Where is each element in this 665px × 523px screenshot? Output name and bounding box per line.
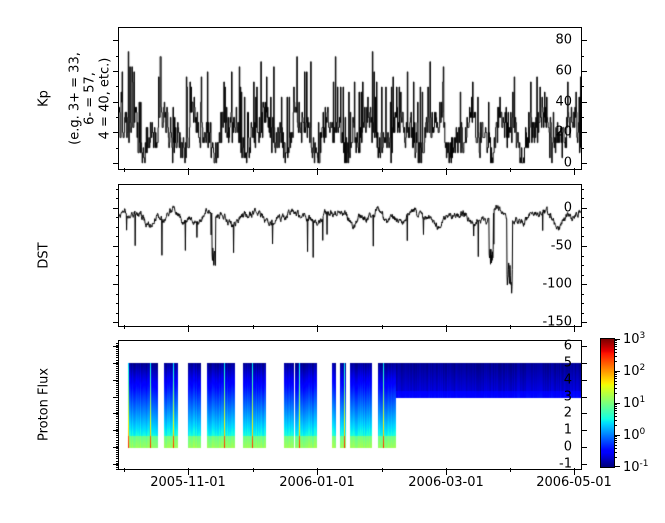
y-minor-tick (581, 198, 584, 199)
y-tick-label: 20 (555, 126, 572, 139)
colorbar-minor-tick (614, 442, 617, 443)
y-major-tick (581, 363, 587, 364)
y-major-tick (581, 464, 587, 465)
colorbar-minor-tick (614, 393, 617, 394)
y-minor-tick (116, 148, 119, 149)
y-minor-tick (581, 294, 584, 295)
y-minor-tick (116, 355, 119, 356)
y-minor-tick (116, 414, 119, 415)
y-minor-tick (116, 56, 119, 57)
y-minor-tick (581, 227, 584, 228)
y-minor-tick (116, 458, 119, 459)
x-minor-tick (124, 468, 125, 472)
y-minor-tick (581, 256, 584, 257)
y-major-tick (581, 102, 587, 103)
y-minor-tick (116, 381, 119, 382)
y-tick-label: 0 (564, 156, 572, 169)
colorbar-minor-tick (614, 384, 617, 385)
colorbar-minor-tick (614, 372, 617, 373)
x-minor-tick (124, 168, 125, 172)
y-major-tick (581, 413, 587, 414)
y-minor-tick (116, 418, 119, 419)
y-minor-tick (116, 397, 119, 398)
y-minor-tick (116, 440, 119, 441)
y-tick-label: 0 (564, 201, 572, 214)
x-major-tick (574, 168, 575, 175)
dst-axis-title: DST (34, 184, 54, 327)
x-minor-tick (382, 468, 383, 472)
y-minor-tick (116, 442, 119, 443)
x-minor-tick (382, 168, 383, 172)
y-minor-tick (116, 389, 119, 390)
y-minor-tick (116, 412, 119, 413)
y-minor-tick (116, 372, 119, 373)
x-major-tick (446, 168, 447, 175)
colorbar-label-1e3: 103 (623, 331, 645, 347)
y-minor-tick (116, 376, 119, 377)
y-major-tick (581, 397, 587, 398)
y-tick-label: 0 (564, 441, 572, 454)
colorbar-minor-tick (614, 344, 617, 345)
colorbar-major-tick (614, 466, 620, 467)
y-major-tick (581, 71, 587, 72)
y-minor-tick (116, 349, 119, 350)
colorbar-minor-tick (614, 413, 617, 414)
x-minor-tick (124, 325, 125, 329)
y-minor-tick (116, 467, 119, 468)
y-minor-tick (116, 456, 119, 457)
y-minor-tick (116, 423, 119, 424)
y-minor-tick (116, 227, 119, 228)
colorbar-minor-tick (614, 374, 617, 375)
y-minor-tick (116, 448, 119, 449)
y-major-tick (113, 208, 119, 209)
y-minor-tick (116, 465, 119, 466)
y-major-tick (581, 346, 587, 347)
colorbar-minor-tick (614, 406, 617, 407)
colorbar-minor-tick (614, 342, 617, 343)
kp-axis-title-line4: 4 = 40, etc.) (98, 33, 113, 163)
y-minor-tick (116, 347, 119, 348)
x-major-tick (188, 468, 189, 475)
y-minor-tick (116, 444, 119, 445)
colorbar-minor-tick (614, 381, 617, 382)
colorbar-minor-tick (614, 356, 617, 357)
y-major-tick (581, 40, 587, 41)
colorbar-gradient (601, 339, 614, 467)
y-minor-tick (116, 353, 119, 354)
y-minor-tick (116, 469, 119, 470)
x-minor-tick (510, 168, 511, 172)
colorbar-label-1em1: 10-1 (623, 459, 649, 475)
y-minor-tick (581, 313, 584, 314)
y-minor-tick (116, 410, 119, 411)
y-major-tick (581, 284, 587, 285)
colorbar-minor-tick (614, 440, 617, 441)
kp-axis-title-line1: Kp (37, 48, 52, 148)
y-minor-tick (116, 265, 119, 266)
y-minor-tick (581, 236, 584, 237)
colorbar-minor-tick (614, 352, 617, 353)
colorbar-minor-tick (614, 340, 617, 341)
proton-flux-spectrogram (119, 341, 581, 469)
x-minor-tick (253, 168, 254, 172)
y-major-tick (581, 430, 587, 431)
y-minor-tick (116, 198, 119, 199)
y-minor-tick (116, 408, 119, 409)
y-minor-tick (116, 446, 119, 447)
colorbar-minor-tick (614, 410, 617, 411)
y-tick-label: 3 (564, 390, 572, 403)
x-major-tick (574, 325, 575, 332)
x-tick-label: 2006-05-01 (536, 475, 612, 490)
kp-series-canvas (119, 28, 581, 169)
kp-axis-title-line3: 6- = 57, (83, 33, 98, 163)
y-minor-tick (116, 404, 119, 405)
y-major-tick (581, 447, 587, 448)
x-major-tick (446, 325, 447, 332)
y-minor-tick (116, 362, 119, 363)
y-minor-tick (116, 427, 119, 428)
y-minor-tick (116, 387, 119, 388)
y-tick-label: -100 (542, 278, 572, 291)
proton-flux-axis-title: Proton Flux (34, 340, 54, 470)
colorbar-minor-tick (614, 438, 617, 439)
y-minor-tick (581, 86, 584, 87)
y-minor-tick (116, 463, 119, 464)
kp-axis-title-line2: (e.g. 3+ = 33, (68, 33, 83, 163)
colorbar-minor-tick (614, 361, 617, 362)
y-minor-tick (116, 437, 119, 438)
y-minor-tick (116, 461, 119, 462)
colorbar-minor-tick (614, 346, 617, 347)
x-major-tick (317, 468, 318, 475)
y-minor-tick (116, 275, 119, 276)
y-tick-label: -150 (542, 316, 572, 329)
y-minor-tick (116, 452, 119, 453)
y-minor-tick (116, 416, 119, 417)
x-minor-tick (510, 468, 511, 472)
y-minor-tick (116, 343, 119, 344)
y-minor-tick (116, 86, 119, 87)
colorbar-minor-tick (614, 452, 617, 453)
y-minor-tick (116, 368, 119, 369)
x-minor-tick (510, 325, 511, 329)
y-minor-tick (116, 429, 119, 430)
y-major-tick (113, 246, 119, 247)
y-tick-label: 80 (555, 34, 572, 47)
y-minor-tick (116, 351, 119, 352)
y-minor-tick (116, 374, 119, 375)
y-minor-tick (116, 393, 119, 394)
y-tick-label: 5 (564, 356, 572, 369)
x-major-tick (188, 168, 189, 175)
y-minor-tick (116, 402, 119, 403)
y-minor-tick (116, 357, 119, 358)
kp-axis-title: Kp (e.g. 3+ = 33, 6- = 57, 4 = 40, etc.) (24, 27, 114, 170)
y-major-tick (581, 380, 587, 381)
y-minor-tick (581, 275, 584, 276)
y-minor-tick (116, 425, 119, 426)
colorbar-minor-tick (614, 376, 617, 377)
colorbar: 103 102 101 100 10-1 (600, 338, 615, 468)
y-tick-label: 4 (564, 373, 572, 386)
y-tick-label: -1 (559, 457, 572, 470)
x-tick-label: 2006-03-01 (408, 475, 484, 490)
y-major-tick (581, 246, 587, 247)
y-minor-tick (116, 303, 119, 304)
x-major-tick (317, 168, 318, 175)
y-tick-label: 1 (564, 424, 572, 437)
colorbar-minor-tick (614, 408, 617, 409)
y-major-tick (581, 163, 587, 164)
y-minor-tick (116, 256, 119, 257)
proton-flux-panel: -10123456 2005-11-012006-01-012006-03-01… (118, 340, 582, 470)
y-major-tick (581, 322, 587, 323)
proton-flux-axis-title-text: Proton Flux (37, 345, 52, 465)
y-minor-tick (116, 236, 119, 237)
x-major-tick (574, 468, 575, 475)
x-major-tick (446, 468, 447, 475)
y-minor-tick (116, 189, 119, 190)
y-minor-tick (581, 303, 584, 304)
colorbar-minor-tick (614, 416, 617, 417)
y-minor-tick (116, 364, 119, 365)
y-tick-label: 2 (564, 407, 572, 420)
dst-axis-title-text: DST (37, 200, 52, 310)
y-minor-tick (581, 189, 584, 190)
y-minor-tick (116, 360, 119, 361)
colorbar-minor-tick (614, 425, 617, 426)
y-minor-tick (116, 217, 119, 218)
x-minor-tick (253, 325, 254, 329)
y-minor-tick (116, 433, 119, 434)
y-minor-tick (116, 406, 119, 407)
y-minor-tick (116, 450, 119, 451)
dst-panel: 0-50-100-150 (118, 184, 582, 327)
y-minor-tick (116, 370, 119, 371)
y-minor-tick (116, 378, 119, 379)
x-major-tick (188, 325, 189, 332)
y-minor-tick (581, 56, 584, 57)
colorbar-minor-tick (614, 436, 617, 437)
colorbar-minor-tick (614, 378, 617, 379)
colorbar-label-1e0: 100 (623, 427, 645, 443)
y-tick-label: 60 (555, 64, 572, 77)
colorbar-label-1e2: 102 (623, 363, 645, 379)
y-minor-tick (116, 431, 119, 432)
y-minor-tick (116, 454, 119, 455)
y-minor-tick (116, 400, 119, 401)
colorbar-minor-tick (614, 445, 617, 446)
kp-panel: 020406080 (118, 27, 582, 170)
y-tick-label: 6 (564, 340, 572, 353)
y-major-tick (113, 322, 119, 323)
y-minor-tick (116, 385, 119, 386)
y-minor-tick (116, 395, 119, 396)
y-minor-tick (116, 366, 119, 367)
y-minor-tick (116, 345, 119, 346)
x-tick-label: 2005-11-01 (150, 475, 226, 490)
x-tick-label: 2006-01-01 (279, 475, 355, 490)
y-major-tick (581, 132, 587, 133)
colorbar-minor-tick (614, 457, 617, 458)
x-minor-tick (253, 468, 254, 472)
y-minor-tick (116, 383, 119, 384)
colorbar-minor-tick (614, 448, 617, 449)
dst-series-canvas (119, 185, 581, 326)
y-minor-tick (116, 435, 119, 436)
y-minor-tick (116, 294, 119, 295)
y-minor-tick (116, 117, 119, 118)
colorbar-label-1e1: 101 (623, 395, 645, 411)
y-minor-tick (581, 148, 584, 149)
colorbar-minor-tick (614, 404, 617, 405)
colorbar-minor-tick (614, 420, 617, 421)
y-minor-tick (116, 313, 119, 314)
y-tick-label: 40 (555, 95, 572, 108)
colorbar-minor-tick (614, 349, 617, 350)
x-minor-tick (382, 325, 383, 329)
y-minor-tick (581, 217, 584, 218)
y-major-tick (581, 208, 587, 209)
y-major-tick (113, 284, 119, 285)
colorbar-minor-tick (614, 388, 617, 389)
y-tick-label: -50 (551, 239, 572, 252)
y-minor-tick (581, 117, 584, 118)
x-major-tick (317, 325, 318, 332)
y-minor-tick (581, 265, 584, 266)
y-minor-tick (116, 391, 119, 392)
y-minor-tick (116, 421, 119, 422)
